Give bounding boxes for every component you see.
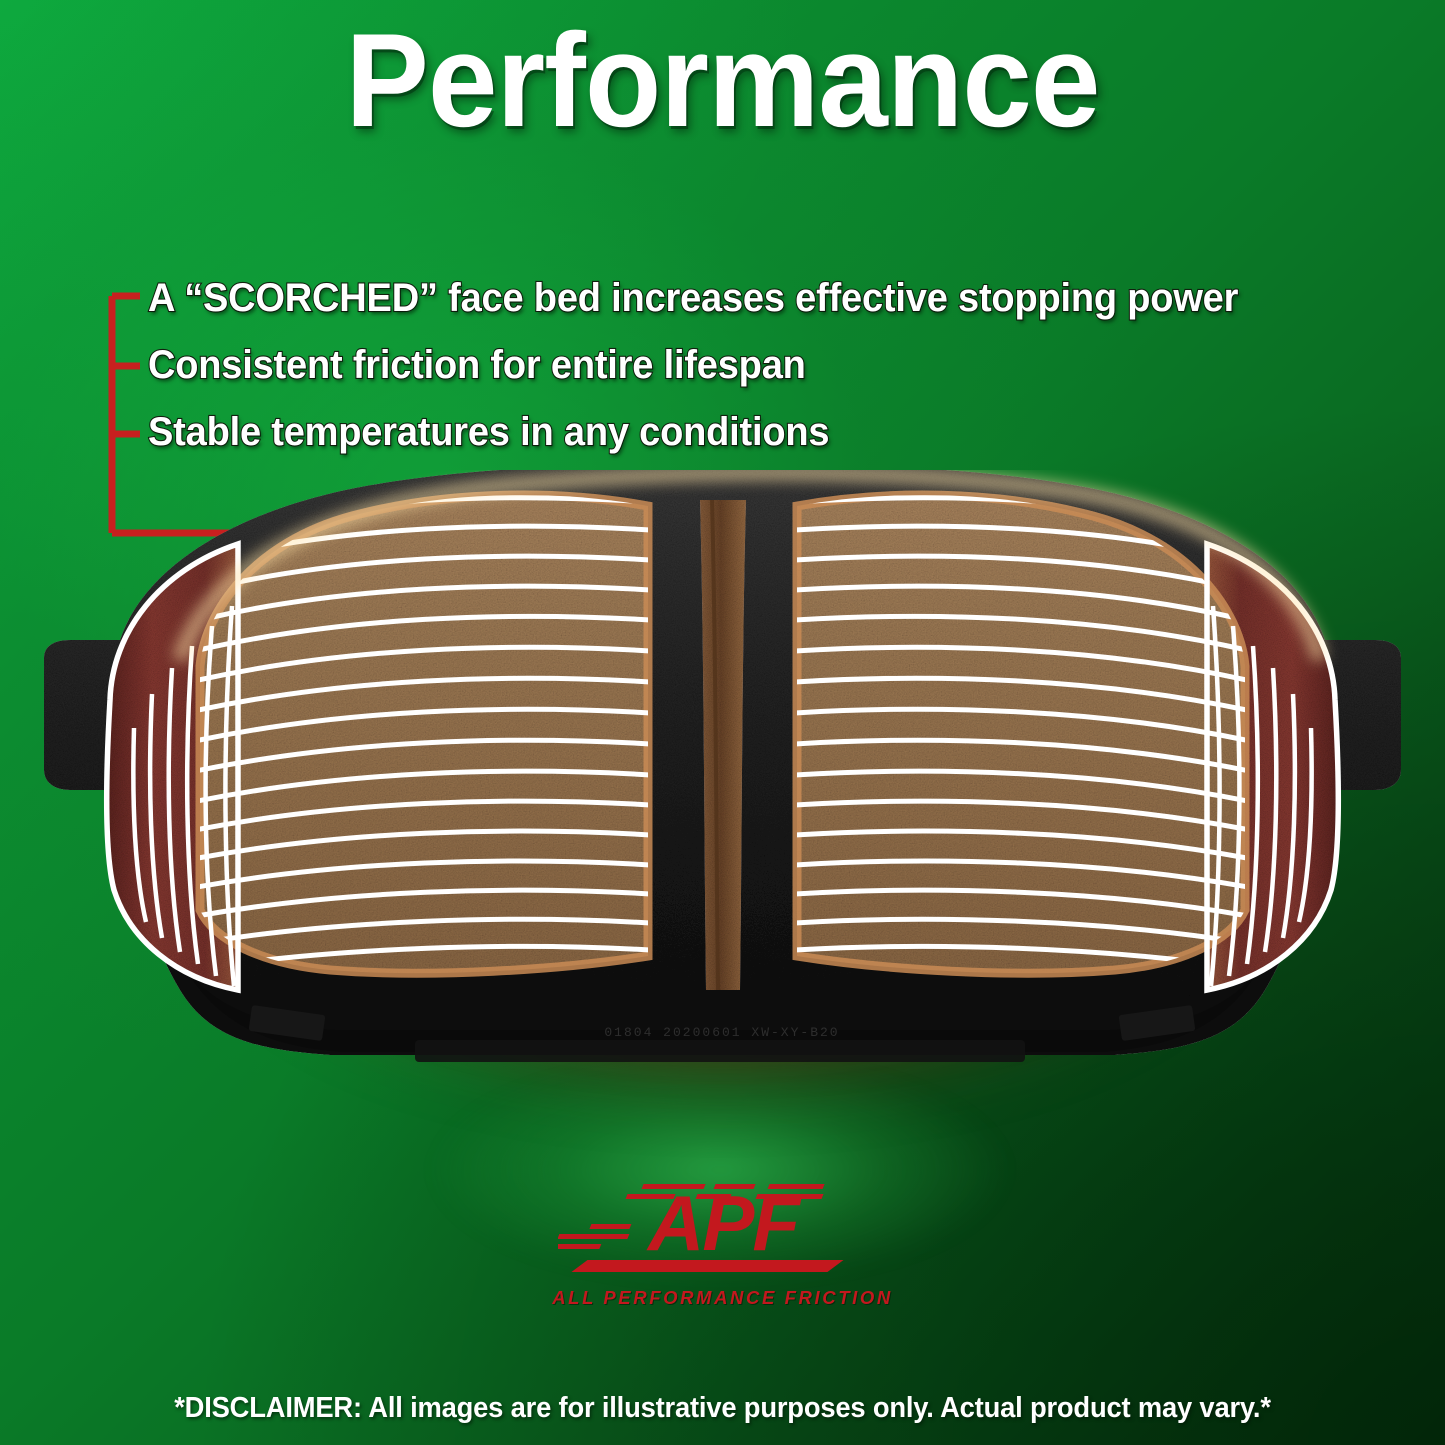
brand-logo: APF ALL PERFORMANCE FRICTION xyxy=(0,1178,1445,1309)
list-item: Stable temperatures in any conditions xyxy=(148,412,1364,452)
brake-pad-illustration: 01804 20200601 XW-XY-B20 xyxy=(0,470,1445,1090)
friction-pad-left xyxy=(107,470,680,990)
friction-pad-right xyxy=(765,470,1338,990)
page-title: Performance xyxy=(43,14,1401,150)
disclaimer-text: *DISCLAIMER: All images are for illustra… xyxy=(29,1392,1416,1425)
svg-text:APF: APF xyxy=(646,1179,802,1267)
center-slot xyxy=(700,500,746,990)
apf-logo-mark: APF xyxy=(558,1178,888,1278)
svg-text:01804 20200601 XW-XY-B20: 01804 20200601 XW-XY-B20 xyxy=(604,1025,839,1040)
feature-list: A “SCORCHED” face bed increases effectiv… xyxy=(148,278,1428,479)
product-image-brake-pad: 01804 20200601 XW-XY-B20 xyxy=(0,470,1445,1090)
product-marketing-image: Performance A “SCORCHED” face bed increa… xyxy=(0,0,1445,1445)
brand-tagline: ALL PERFORMANCE FRICTION xyxy=(0,1287,1445,1309)
list-item: Consistent friction for entire lifespan xyxy=(148,345,1364,385)
list-item: A “SCORCHED” face bed increases effectiv… xyxy=(148,278,1364,318)
